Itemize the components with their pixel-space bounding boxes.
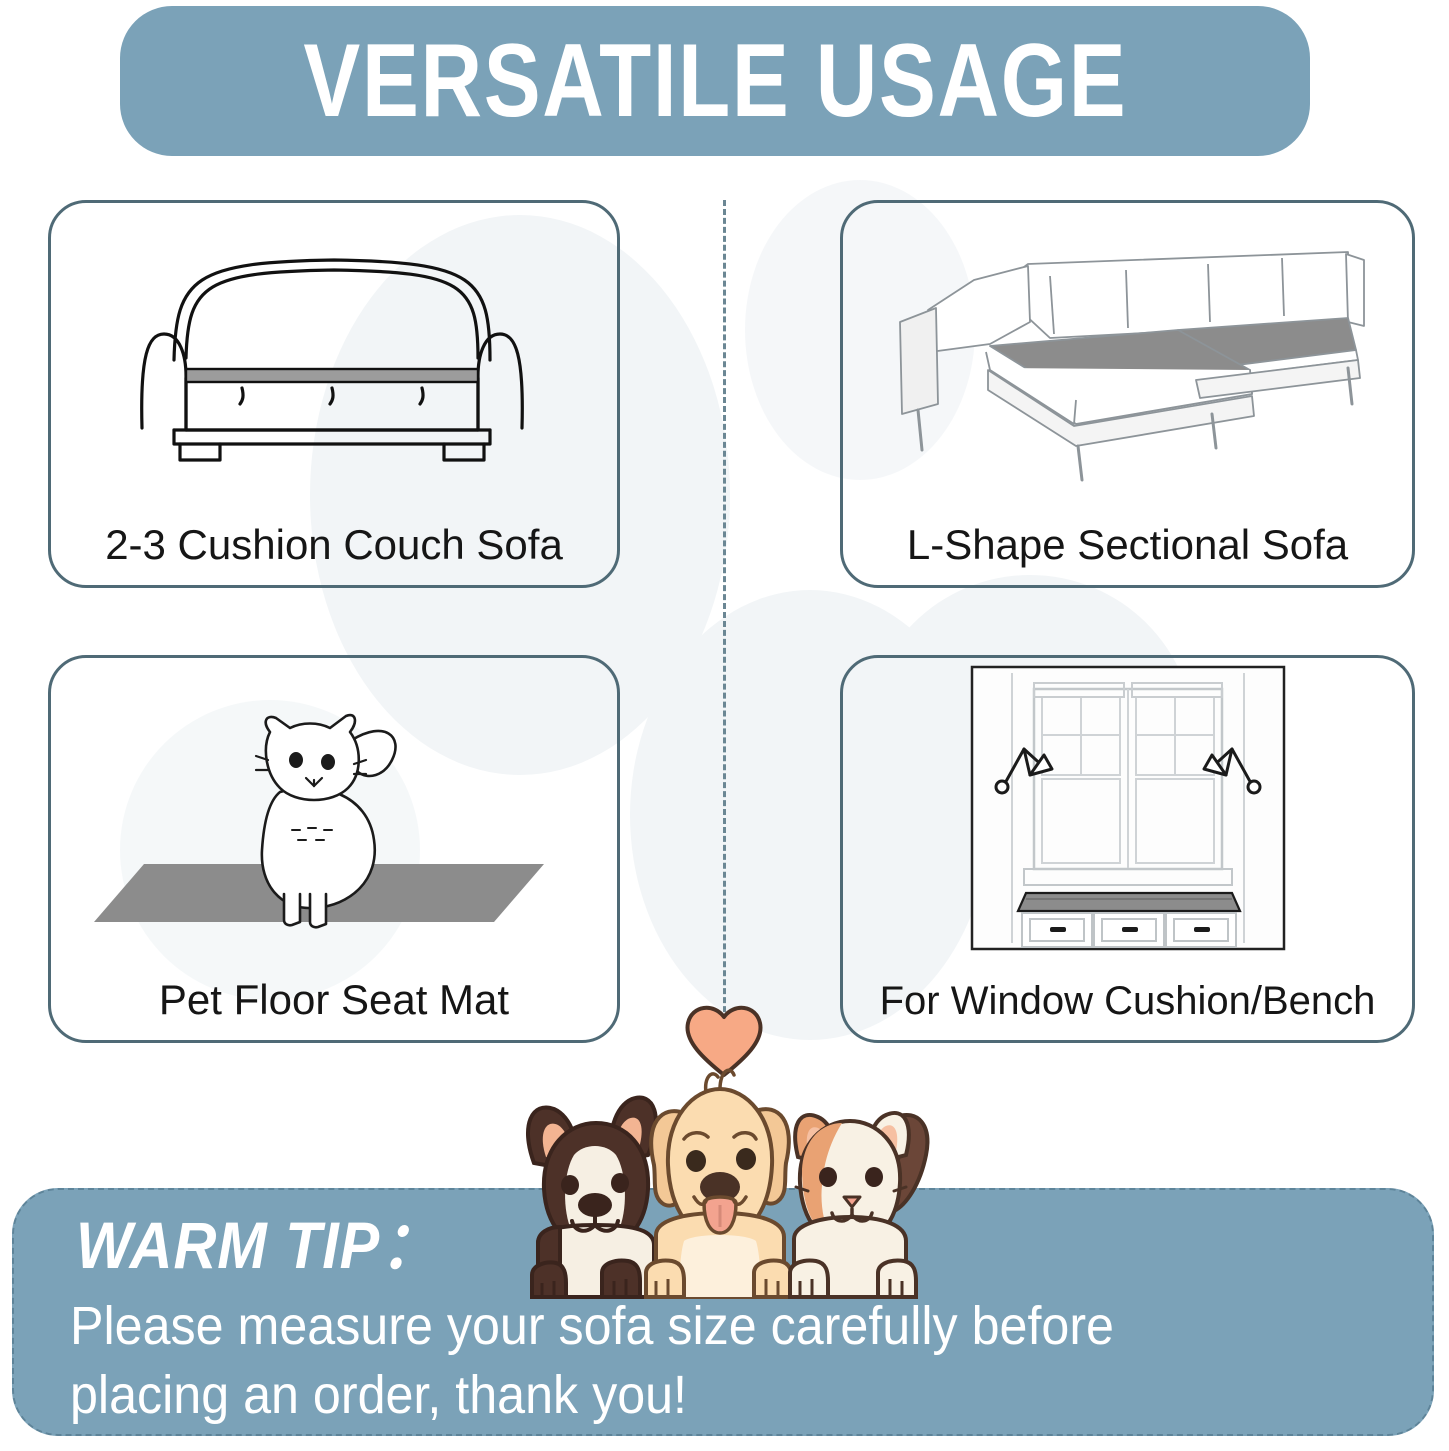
warm-tip-title: WARM TIP： (76, 1212, 440, 1278)
window-bench-illustration (843, 658, 1412, 958)
sectional-sofa-illustration (843, 203, 1412, 503)
usage-card-couch-sofa[interactable]: 2-3 Cushion Couch Sofa (48, 200, 620, 588)
card-label: 2-3 Cushion Couch Sofa (51, 523, 617, 567)
french-bulldog-icon (528, 1098, 656, 1297)
cat-on-mat-icon (84, 668, 584, 948)
pets-illustration (498, 1005, 950, 1315)
l-shape-sectional-icon (878, 218, 1378, 488)
calico-cat-icon (790, 1113, 927, 1297)
usage-card-pet-mat[interactable]: Pet Floor Seat Mat (48, 655, 620, 1043)
warm-tip-line-2: placing an order, thank you! (70, 1361, 1298, 1430)
couch-sofa-illustration (51, 203, 617, 503)
card-label: L-Shape Sectional Sofa (843, 523, 1412, 567)
golden-retriever-icon (646, 1070, 792, 1297)
page-title: VERSATILE USAGE (303, 29, 1127, 133)
usage-card-grid: 2-3 Cushion Couch Sofa (0, 0, 1449, 1060)
usage-card-sectional-sofa[interactable]: L-Shape Sectional Sofa (840, 200, 1415, 588)
window-bench-icon (968, 663, 1288, 953)
heart-icon (687, 1008, 760, 1075)
pets-group-icon (498, 1005, 950, 1315)
pet-mat-illustration (51, 658, 617, 958)
header-banner: VERSATILE USAGE (120, 6, 1310, 156)
usage-card-window-bench[interactable]: For Window Cushion/Bench (840, 655, 1415, 1043)
couch-sofa-icon (134, 238, 534, 468)
